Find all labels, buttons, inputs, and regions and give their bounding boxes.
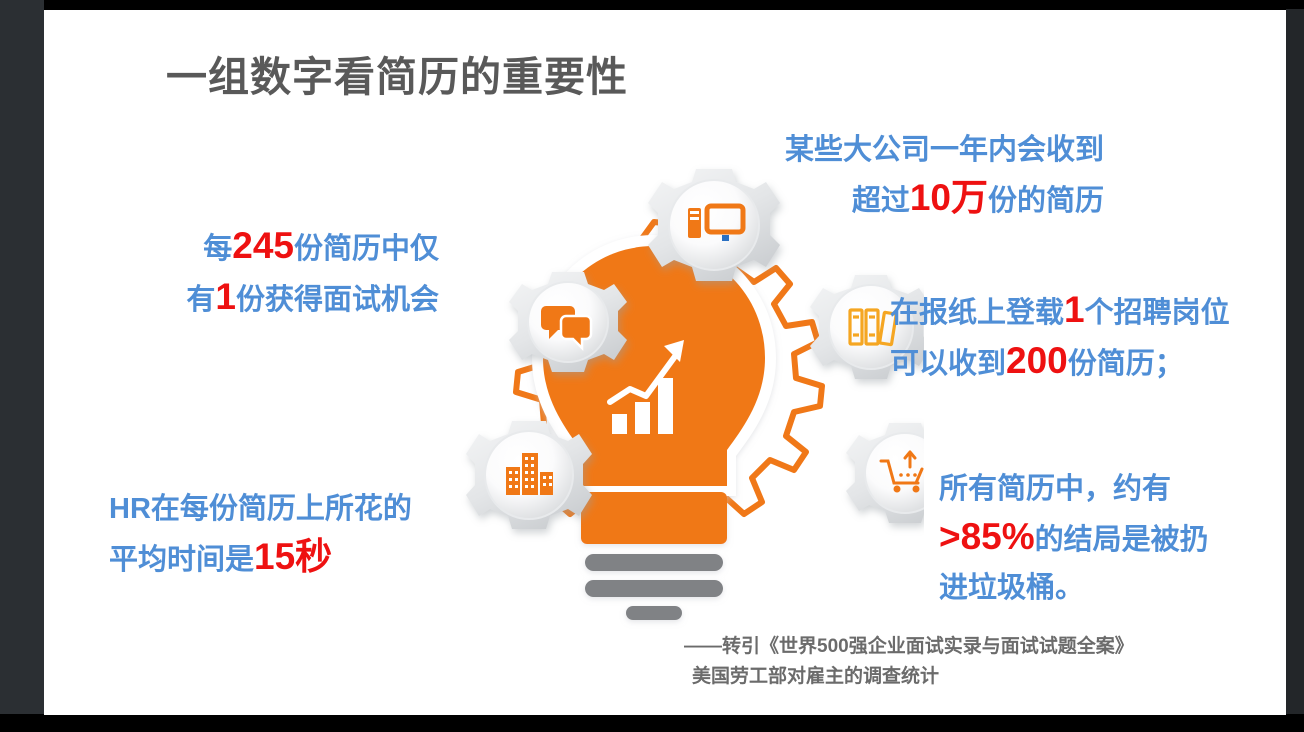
callout-left: 每245份简历中仅 有1份获得面试机会 <box>149 222 439 324</box>
text-post: 份获得面试机会 <box>236 284 439 316</box>
callout-bottom-right-line3: 进垃圾桶。 <box>939 564 1279 612</box>
highlight-number: 1 <box>1064 289 1085 330</box>
highlight-number: 15秒 <box>254 536 332 577</box>
citation-line1: ——转引《世界500强企业面试实录与面试试题全案》 <box>684 632 1134 662</box>
text-pre: 超过 <box>852 185 910 217</box>
callout-top-right: 某些大公司一年内会收到 超过10万份的简历 <box>704 126 1104 225</box>
text-post: 份简历中仅 <box>294 233 439 265</box>
callout-left-line2: 有1份获得面试机会 <box>149 273 439 324</box>
window-top-bar <box>0 0 1304 9</box>
text-post: 份简历； <box>1068 348 1184 380</box>
gear-speech <box>509 272 627 372</box>
callout-right: 在报纸上登载1个招聘岗位 可以收到200份简历； <box>890 286 1286 388</box>
callout-right-line1: 在报纸上登载1个招聘岗位 <box>890 286 1286 337</box>
highlight-number: 10万 <box>910 177 988 218</box>
text-pre: 平均时间是 <box>109 544 254 576</box>
callout-right-line2: 可以收到200份简历； <box>890 337 1286 388</box>
page-title: 一组数字看简历的重要性 <box>166 43 628 103</box>
callout-bottom-right: 所有简历中，约有 >85%的结局是被扔 进垃圾桶。 <box>939 465 1279 612</box>
callout-left-line1: 每245份简历中仅 <box>149 222 439 273</box>
text-pre: 在报纸上登载 <box>890 297 1064 329</box>
text-pre: 可以收到 <box>890 348 1006 380</box>
citation-line2: 美国劳工部对雇主的调查统计 <box>684 662 1134 692</box>
text-post: 个招聘岗位 <box>1085 297 1230 329</box>
callout-bottom-right-line2: >85%的结局是被扔 <box>939 513 1279 564</box>
window-right-bar <box>1286 9 1304 718</box>
screen: 一组数字看简历的重要性 <box>0 0 1304 732</box>
callout-top-right-line1: 某些大公司一年内会收到 <box>704 126 1104 174</box>
slide-canvas: 一组数字看简历的重要性 <box>44 10 1286 715</box>
gear-cart <box>846 423 924 523</box>
highlight-number: >85% <box>939 516 1035 557</box>
callout-bottom-left-line1: HR在每份简历上所花的 <box>109 485 469 533</box>
callout-bottom-right-line1: 所有简历中，约有 <box>939 465 1279 513</box>
callout-bottom-left: HR在每份简历上所花的 平均时间是15秒 <box>109 485 469 584</box>
highlight-number: 200 <box>1006 340 1068 381</box>
callout-bottom-left-line2: 平均时间是15秒 <box>109 533 469 584</box>
highlight-number: 245 <box>232 225 294 266</box>
window-bottom-bar <box>0 714 1304 732</box>
text-post: 的结局是被扔 <box>1035 524 1209 556</box>
highlight-number: 1 <box>215 276 236 317</box>
text-pre: 有 <box>186 284 215 316</box>
text-post: 份的简历 <box>988 185 1104 217</box>
text-pre: 每 <box>203 233 232 265</box>
citation: ——转引《世界500强企业面试实录与面试试题全案》 美国劳工部对雇主的调查统计 <box>684 632 1134 692</box>
callout-top-right-line2: 超过10万份的简历 <box>704 174 1104 225</box>
window-left-bar <box>0 0 44 718</box>
